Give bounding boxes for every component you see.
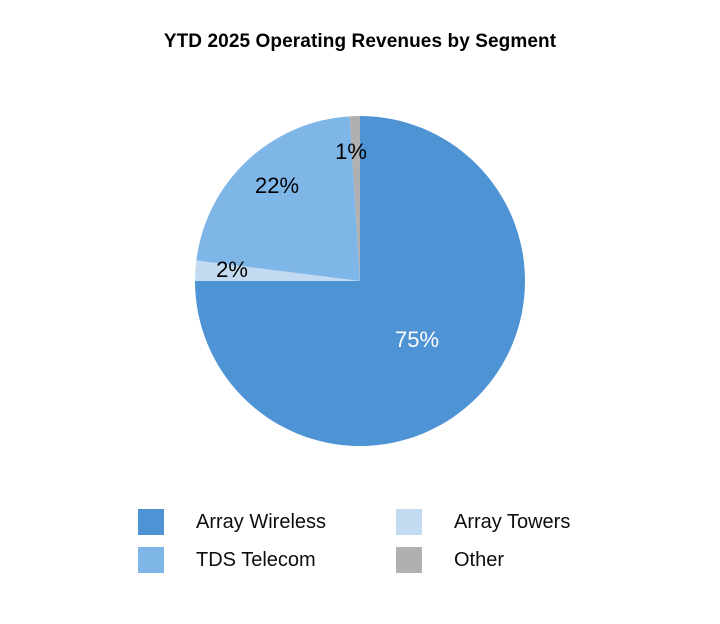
legend-swatch-icon [396,509,422,535]
legend-item-label: Array Wireless [196,511,326,534]
pie-slice-group [195,116,525,446]
legend-item-other[interactable]: Other [396,541,608,579]
pie-svg [0,0,720,470]
legend-swatch-icon [138,547,164,573]
legend-item-array-towers[interactable]: Array Towers [396,503,608,541]
legend-item-label: Array Towers [454,511,570,534]
pie-slice-tds-telecom[interactable] [196,116,360,281]
pie-plot-area: 75%2%22%1% [0,0,720,470]
legend-item-label: TDS Telecom [196,549,316,572]
legend-swatch-icon [138,509,164,535]
legend-item-label: Other [454,549,504,572]
legend-item-array-wireless[interactable]: Array Wireless [138,503,396,541]
legend-item-tds-telecom[interactable]: TDS Telecom [138,541,396,579]
pie-chart-figure: YTD 2025 Operating Revenues by Segment 7… [0,0,720,624]
legend-swatch-icon [396,547,422,573]
legend: Array WirelessArray TowersTDS TelecomOth… [138,503,608,579]
